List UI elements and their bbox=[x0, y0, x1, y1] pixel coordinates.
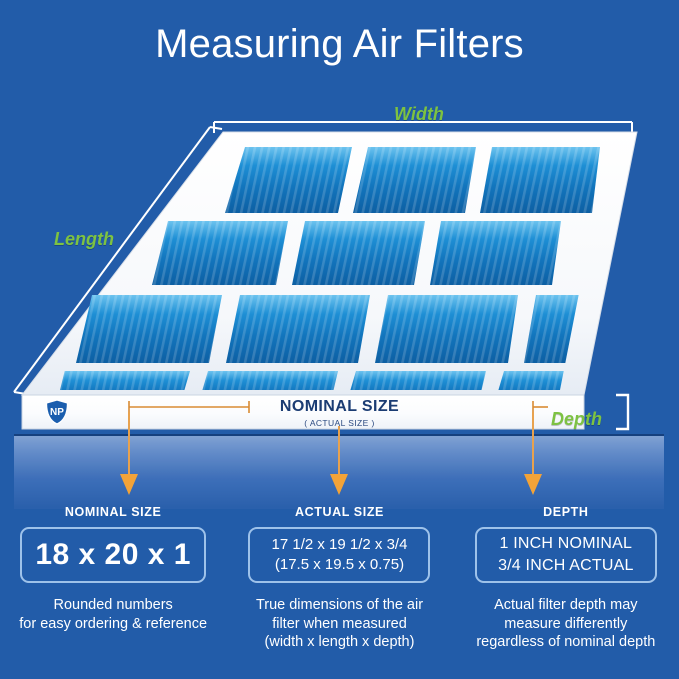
column-actual-size: ACTUAL SIZE 17 1/2 x 19 1/2 x 3/4 (17.5 … bbox=[226, 505, 452, 652]
info-columns: NOMINAL SIZE 18 x 20 x 1 Rounded numbers… bbox=[0, 505, 679, 652]
np-logo-text: NP bbox=[50, 407, 64, 418]
value-line: 18 x 20 x 1 bbox=[35, 538, 191, 572]
column-heading-depth: DEPTH bbox=[459, 505, 673, 519]
infographic-root: Measuring Air Filters bbox=[0, 0, 679, 679]
column-caption-depth: Actual filter depth may measure differen… bbox=[459, 596, 673, 652]
value-line: 3/4 INCH ACTUAL bbox=[498, 555, 633, 577]
value-box-actual: 17 1/2 x 19 1/2 x 3/4 (17.5 x 19.5 x 0.7… bbox=[248, 527, 430, 583]
column-heading-nominal: NOMINAL SIZE bbox=[6, 505, 220, 519]
caption-line: Actual filter depth may bbox=[459, 596, 673, 615]
depth-label: Depth bbox=[551, 409, 602, 430]
caption-line: for easy ordering & reference bbox=[6, 615, 220, 634]
column-caption-actual: True dimensions of the air filter when m… bbox=[232, 596, 446, 652]
caption-line: filter when measured bbox=[232, 615, 446, 634]
page-title: Measuring Air Filters bbox=[0, 22, 679, 66]
value-line: 17 1/2 x 19 1/2 x 3/4 bbox=[272, 535, 408, 555]
column-caption-nominal: Rounded numbers for easy ordering & refe… bbox=[6, 596, 220, 633]
value-line: 1 INCH NOMINAL bbox=[500, 533, 633, 555]
value-box-nominal: 18 x 20 x 1 bbox=[20, 527, 206, 583]
caption-line: measure differently bbox=[459, 615, 673, 634]
column-heading-actual: ACTUAL SIZE bbox=[232, 505, 446, 519]
caption-line: (width x length x depth) bbox=[232, 633, 446, 652]
value-box-depth: 1 INCH NOMINAL 3/4 INCH ACTUAL bbox=[475, 527, 657, 583]
caption-line: regardless of nominal depth bbox=[459, 633, 673, 652]
value-line: (17.5 x 19.5 x 0.75) bbox=[275, 555, 404, 575]
air-filter-illustration bbox=[0, 95, 679, 425]
column-depth: DEPTH 1 INCH NOMINAL 3/4 INCH ACTUAL Act… bbox=[453, 505, 679, 652]
caption-line: True dimensions of the air bbox=[232, 596, 446, 615]
caption-line: Rounded numbers bbox=[6, 596, 220, 615]
column-nominal-size: NOMINAL SIZE 18 x 20 x 1 Rounded numbers… bbox=[0, 505, 226, 652]
width-label: Width bbox=[394, 104, 444, 125]
under-filter-glow bbox=[14, 434, 664, 509]
filter-svg bbox=[0, 95, 679, 435]
np-shield-logo: NP bbox=[45, 399, 69, 425]
length-label: Length bbox=[54, 229, 114, 250]
